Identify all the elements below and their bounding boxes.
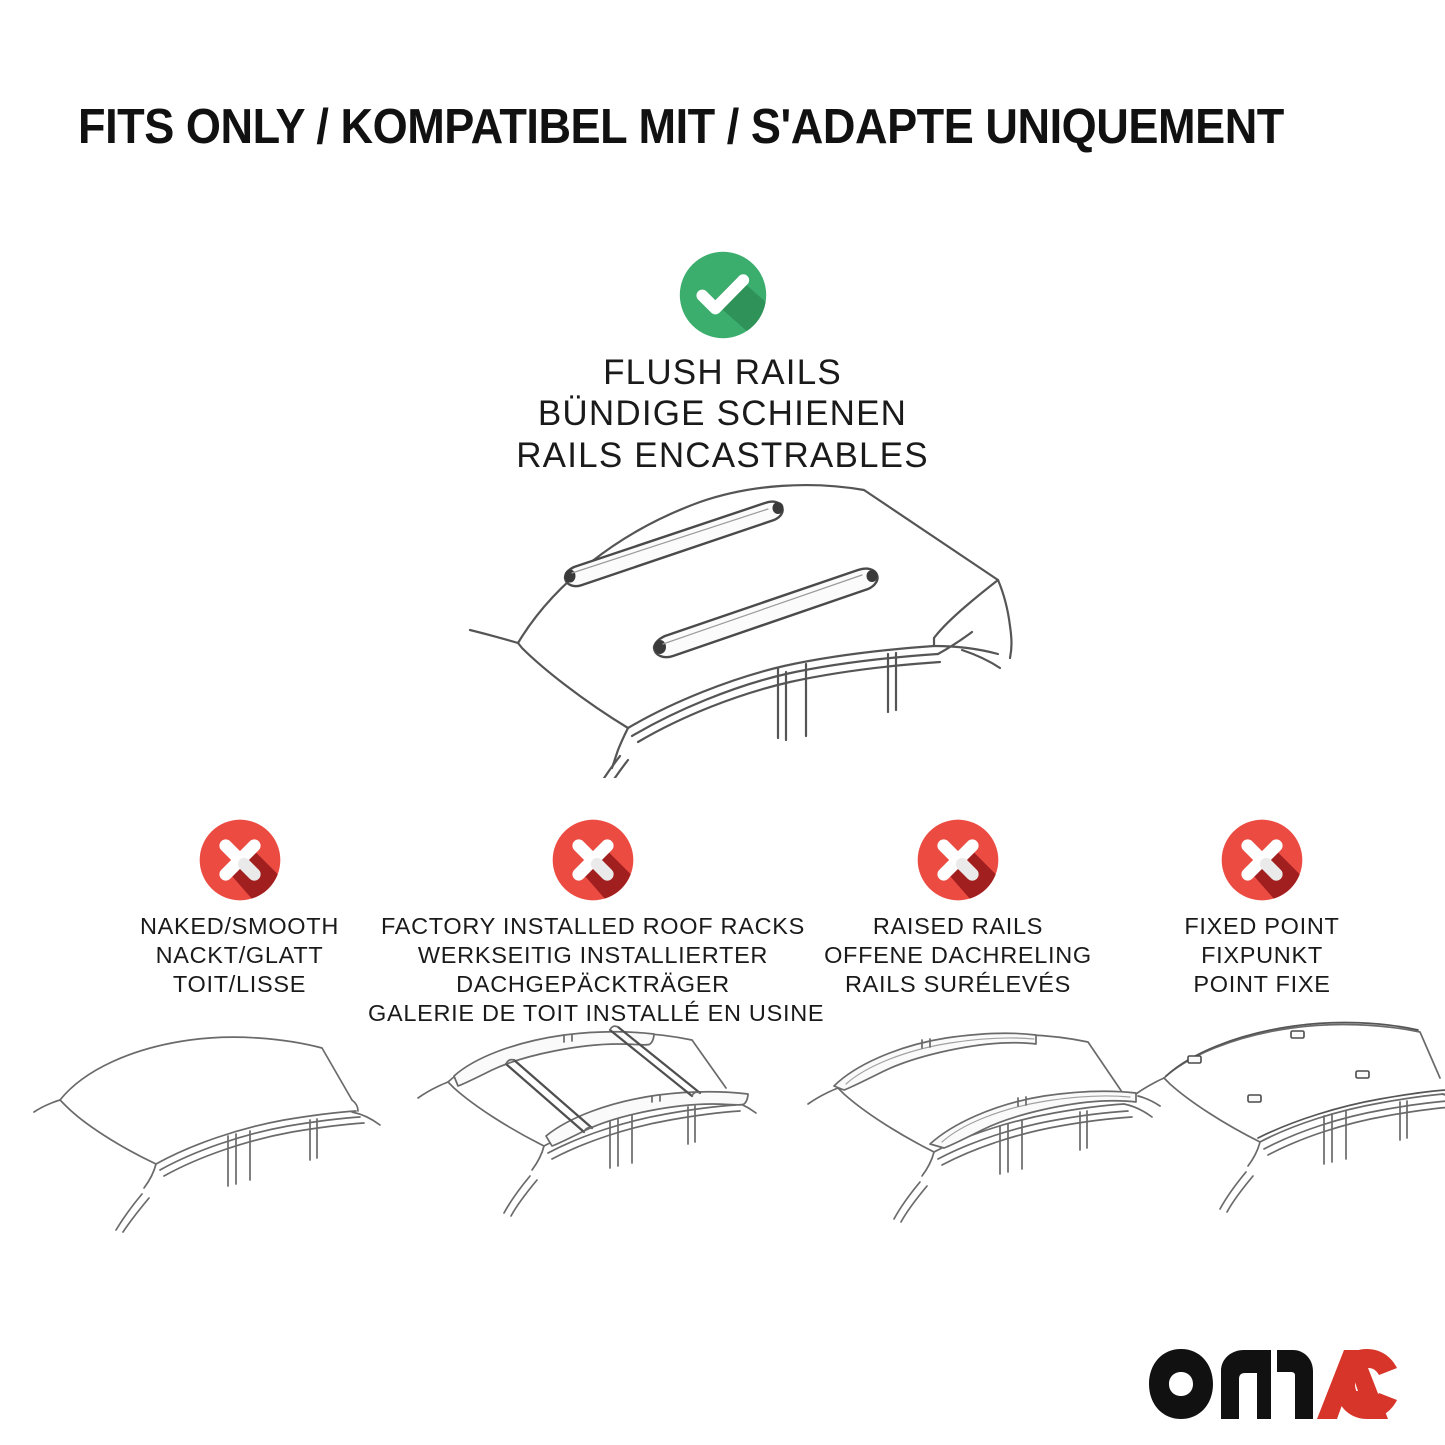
item-labels: RAISED RAILS OFFENE DACHRELING RAILS SUR… — [808, 912, 1108, 999]
incompatible-item-fixed-point: FIXED POINT FIXPUNKT POINT FIXE — [1132, 818, 1392, 999]
item-label-fr: TOIT/LISSE — [62, 970, 417, 999]
omac-logo — [1147, 1345, 1397, 1423]
incompatible-item-naked-smooth: NAKED/SMOOTH NACKT/GLATT TOIT/LISSE — [62, 818, 417, 999]
omac-logo-black-part — [1149, 1349, 1313, 1419]
car-roof-fixed-point-illustration — [1128, 1008, 1445, 1233]
incompatible-item-factory-installed-roof-racks: FACTORY INSTALLED ROOF RACKS WERKSEITIG … — [368, 818, 818, 1028]
compatible-label-de: BÜNDIGE SCHIENEN — [0, 393, 1445, 434]
item-label-fr: RAILS SURÉLEVÉS — [808, 970, 1108, 999]
page-title: FITS ONLY / KOMPATIBEL MIT / S'ADAPTE UN… — [78, 103, 1274, 152]
car-roof-with-flush-rails-illustration — [432, 468, 1032, 778]
compatible-section: FLUSH RAILS BÜNDIGE SCHIENEN RAILS ENCAS… — [0, 250, 1445, 476]
item-label-de-2: DACHGEPÄCKTRÄGER — [368, 970, 818, 999]
red-x-circle-icon — [198, 818, 282, 902]
compatibility-infographic: FITS ONLY / KOMPATIBEL MIT / S'ADAPTE UN… — [0, 0, 1445, 1445]
item-label-de: FIXPUNKT — [1132, 941, 1392, 970]
red-x-circle-icon — [916, 818, 1000, 902]
item-label-de: NACKT/GLATT — [62, 941, 417, 970]
omac-logo-red-part — [1317, 1349, 1397, 1419]
item-label-en: FACTORY INSTALLED ROOF RACKS — [368, 912, 818, 941]
item-label-en: FIXED POINT — [1132, 912, 1392, 941]
incompatible-item-raised-rails: RAISED RAILS OFFENE DACHRELING RAILS SUR… — [808, 818, 1108, 999]
green-check-circle-icon — [678, 250, 768, 340]
item-label-fr: POINT FIXE — [1132, 970, 1392, 999]
red-x-circle-icon — [1220, 818, 1304, 902]
item-labels: NAKED/SMOOTH NACKT/GLATT TOIT/LISSE — [62, 912, 417, 999]
compatible-label-en: FLUSH RAILS — [0, 352, 1445, 393]
car-roof-with-raised-rails-illustration — [790, 1008, 1162, 1233]
illustration-row — [0, 1008, 1445, 1233]
car-roof-with-factory-roof-racks-illustration — [396, 1008, 768, 1233]
item-label-de: OFFENE DACHRELING — [808, 941, 1108, 970]
red-x-circle-icon — [551, 818, 635, 902]
item-label-en: NAKED/SMOOTH — [62, 912, 417, 941]
item-label-en: RAISED RAILS — [808, 912, 1108, 941]
compatible-labels: FLUSH RAILS BÜNDIGE SCHIENEN RAILS ENCAS… — [0, 352, 1445, 476]
item-label-de-1: WERKSEITIG INSTALLIERTER — [368, 941, 818, 970]
car-roof-naked-smooth-illustration — [22, 1008, 382, 1233]
item-labels: FIXED POINT FIXPUNKT POINT FIXE — [1132, 912, 1392, 999]
